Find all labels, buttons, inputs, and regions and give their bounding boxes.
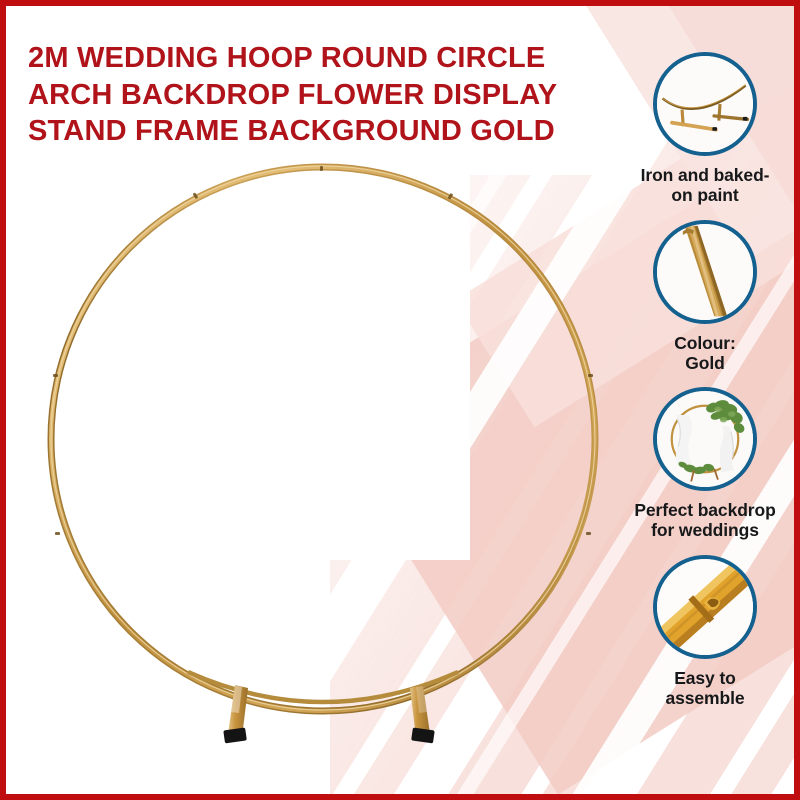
feature-item-perfect-backdrop-for-weddings: Perfect backdrop for weddings [616, 387, 794, 541]
feature-label-4-line-1: Easy to [674, 668, 736, 688]
frame-base-icon [657, 56, 753, 152]
product-title-line-1: 2M WEDDING HOOP ROUND CIRCLE [28, 40, 598, 77]
product-listing-image: 2M WEDDING HOOP ROUND CIRCLE ARCH BACKDR… [0, 0, 800, 800]
feature-thumbnail-3 [653, 387, 757, 491]
feature-label-4: Easy to assemble [616, 668, 794, 709]
feature-item-colour-gold: Colour: Gold [616, 220, 794, 374]
feature-item-iron-and-baked-on-paint: Iron and baked- on paint [616, 52, 794, 206]
feature-label-2-line-1: Colour: [674, 333, 736, 353]
feature-label-4-line-2: assemble [666, 688, 745, 708]
feature-list: Iron and baked- on paint Colour: Gold [616, 52, 794, 782]
feature-thumbnail-1 [653, 52, 757, 156]
feature-label-3: Perfect backdrop for weddings [616, 500, 794, 541]
feature-thumbnail-2 [653, 220, 757, 324]
product-title-line-3: STAND FRAME BACKGROUND GOLD [28, 113, 598, 150]
feature-label-1-line-1: Iron and baked- [641, 165, 770, 185]
feature-label-3-line-2: for weddings [651, 520, 759, 540]
feature-item-easy-to-assemble: Easy to assemble [616, 555, 794, 709]
gold-tube-icon [657, 224, 753, 320]
product-title-line-2: ARCH BACKDROP FLOWER DISPLAY [28, 77, 598, 114]
feature-label-3-line-1: Perfect backdrop [634, 500, 775, 520]
tube-connector-icon [657, 559, 753, 655]
feature-label-1: Iron and baked- on paint [616, 165, 794, 206]
decorated-hoop-icon [657, 391, 753, 487]
feature-label-1-line-2: on paint [671, 185, 738, 205]
product-title: 2M WEDDING HOOP ROUND CIRCLE ARCH BACKDR… [28, 40, 598, 150]
feature-label-2: Colour: Gold [616, 333, 794, 374]
feature-label-2-line-2: Gold [685, 353, 724, 373]
feature-thumbnail-4 [653, 555, 757, 659]
